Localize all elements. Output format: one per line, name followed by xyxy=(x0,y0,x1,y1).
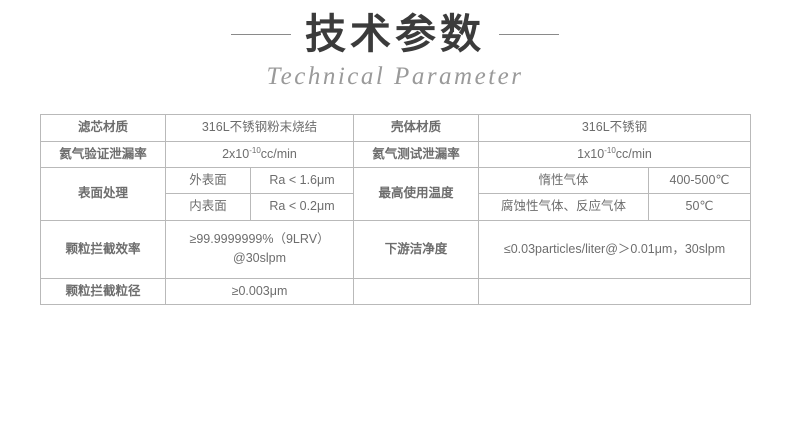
row-value-empty xyxy=(479,278,751,304)
leak-value-unit: cc/min xyxy=(261,147,297,161)
leak-value-base: 1x10 xyxy=(577,147,604,161)
row-label-downstream-cleanliness: 下游洁净度 xyxy=(354,220,479,278)
table-row: 滤芯材质 316L不锈钢粉末烧结 壳体材质 316L不锈钢 xyxy=(41,115,751,141)
particle-efficiency-line2: @30slpm xyxy=(170,249,349,268)
row-value-helium-verify-leak: 2x10-10cc/min xyxy=(166,141,354,167)
title-rule-left xyxy=(231,34,291,35)
page-subtitle: Technical Parameter xyxy=(0,63,790,91)
row-label-helium-test-leak: 氦气测试泄漏率 xyxy=(354,141,479,167)
sub-value-inert-gas: 400-500℃ xyxy=(649,168,751,194)
page-title: 技术参数 xyxy=(305,12,485,56)
row-label-particle-size: 颗粒拦截粒径 xyxy=(41,278,166,304)
row-label-helium-verify-leak: 氦气验证泄漏率 xyxy=(41,141,166,167)
leak-value-exponent: -10 xyxy=(249,145,261,154)
row-value-particle-efficiency: ≥99.9999999%（9LRV） @30slpm xyxy=(166,220,354,278)
row-label-empty xyxy=(354,278,479,304)
sub-value-outer-surface: Ra < 1.6μm xyxy=(251,168,354,194)
leak-value-base: 2x10 xyxy=(222,147,249,161)
sub-value-inner-surface: Ra < 0.2μm xyxy=(251,194,354,220)
row-value-housing-material: 316L不锈钢 xyxy=(479,115,751,141)
page-header: 技术参数 Technical Parameter xyxy=(0,0,790,91)
row-value-helium-test-leak: 1x10-10cc/min xyxy=(479,141,751,167)
row-value-particle-size: ≥0.003μm xyxy=(166,278,354,304)
row-value-filter-material: 316L不锈钢粉末烧结 xyxy=(166,115,354,141)
sub-label-inner-surface: 内表面 xyxy=(166,194,251,220)
technical-parameter-table: 滤芯材质 316L不锈钢粉末烧结 壳体材质 316L不锈钢 氦气验证泄漏率 2x… xyxy=(40,114,751,305)
table-row: 表面处理 外表面 Ra < 1.6μm 最高使用温度 惰性气体 400-500℃ xyxy=(41,168,751,194)
row-label-particle-efficiency: 颗粒拦截效率 xyxy=(41,220,166,278)
row-label-filter-material: 滤芯材质 xyxy=(41,115,166,141)
sub-value-corrosive-gas: 50℃ xyxy=(649,194,751,220)
sub-label-corrosive-gas: 腐蚀性气体、反应气体 xyxy=(479,194,649,220)
table-row: 氦气验证泄漏率 2x10-10cc/min 氦气测试泄漏率 1x10-10cc/… xyxy=(41,141,751,167)
spec-table-container: 滤芯材质 316L不锈钢粉末烧结 壳体材质 316L不锈钢 氦气验证泄漏率 2x… xyxy=(0,114,790,305)
sub-label-outer-surface: 外表面 xyxy=(166,168,251,194)
leak-value-exponent: -10 xyxy=(604,145,616,154)
row-label-surface-treatment: 表面处理 xyxy=(41,168,166,221)
row-label-housing-material: 壳体材质 xyxy=(354,115,479,141)
leak-value-unit: cc/min xyxy=(616,147,652,161)
title-rule-right xyxy=(499,34,559,35)
table-row: 颗粒拦截粒径 ≥0.003μm xyxy=(41,278,751,304)
title-row: 技术参数 xyxy=(0,12,790,56)
row-value-downstream-cleanliness: ≤0.03particles/liter@＞0.01μm，30slpm xyxy=(479,220,751,278)
row-label-max-temperature: 最高使用温度 xyxy=(354,168,479,221)
particle-efficiency-line1: ≥99.9999999%（9LRV） xyxy=(170,230,349,249)
sub-label-inert-gas: 惰性气体 xyxy=(479,168,649,194)
table-row: 颗粒拦截效率 ≥99.9999999%（9LRV） @30slpm 下游洁净度 … xyxy=(41,220,751,278)
